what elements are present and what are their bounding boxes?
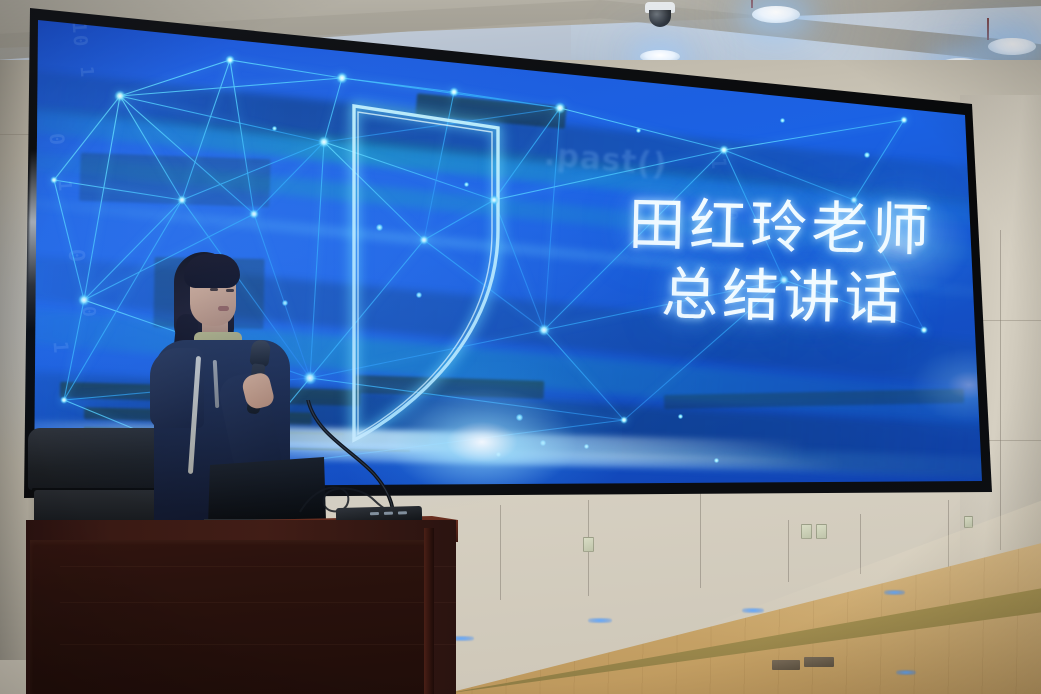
wall-panel-seam — [500, 505, 501, 600]
presenter-eye — [210, 288, 218, 291]
wall-outlet — [816, 524, 827, 539]
glow-particle — [780, 118, 785, 123]
floor-outlet-box — [772, 660, 800, 670]
glow-particle — [636, 128, 641, 133]
slide-title-line-2: 总结讲话 — [587, 261, 980, 334]
mic-base-indicator — [398, 511, 407, 514]
wall-outlet — [964, 516, 973, 528]
wall-outlet — [801, 524, 812, 539]
podium-right-edge — [424, 528, 434, 694]
wall-panel-seam — [1000, 230, 1001, 550]
glow-particle — [678, 414, 683, 419]
screenshot-root: 10 1 0 1 0 0 1 1 0 .past() — [0, 0, 1041, 694]
floor-reflection — [742, 608, 764, 613]
podium-front-panel — [30, 540, 428, 694]
glow-particle — [464, 182, 469, 187]
mic-base-indicator — [370, 512, 379, 515]
wall-panel-seam — [700, 492, 701, 588]
pendant-disc — [752, 6, 800, 23]
glow-particle — [376, 224, 383, 231]
slide-title: 田红玲老师 总结讲话 — [579, 192, 982, 334]
pendant-disc — [988, 38, 1036, 55]
podium-wood-grain — [60, 644, 458, 645]
podium-wood-grain — [60, 566, 458, 567]
glow-particle — [416, 292, 422, 298]
glow-particle — [272, 126, 277, 131]
presenter-eye — [226, 289, 234, 292]
slide-title-line-1: 田红玲老师 — [628, 192, 934, 264]
mic-base-indicator — [384, 512, 393, 515]
pendant-rod — [987, 18, 989, 40]
wall-outlet — [583, 537, 594, 552]
floor-outlet-box — [804, 657, 834, 667]
glow-particle — [864, 152, 870, 158]
presenter-hair-front — [184, 254, 240, 288]
podium-wood-grain — [60, 602, 458, 603]
floor-reflection — [884, 590, 905, 595]
floor-reflection — [896, 670, 916, 675]
camera-dome — [649, 10, 671, 27]
dome-security-camera-icon — [645, 2, 675, 28]
presenter-mouth — [218, 306, 229, 311]
wall-panel-seam — [788, 520, 789, 582]
wall-panel-seam — [860, 514, 861, 574]
pendant-rod — [751, 0, 753, 8]
floor-reflection — [588, 618, 612, 623]
